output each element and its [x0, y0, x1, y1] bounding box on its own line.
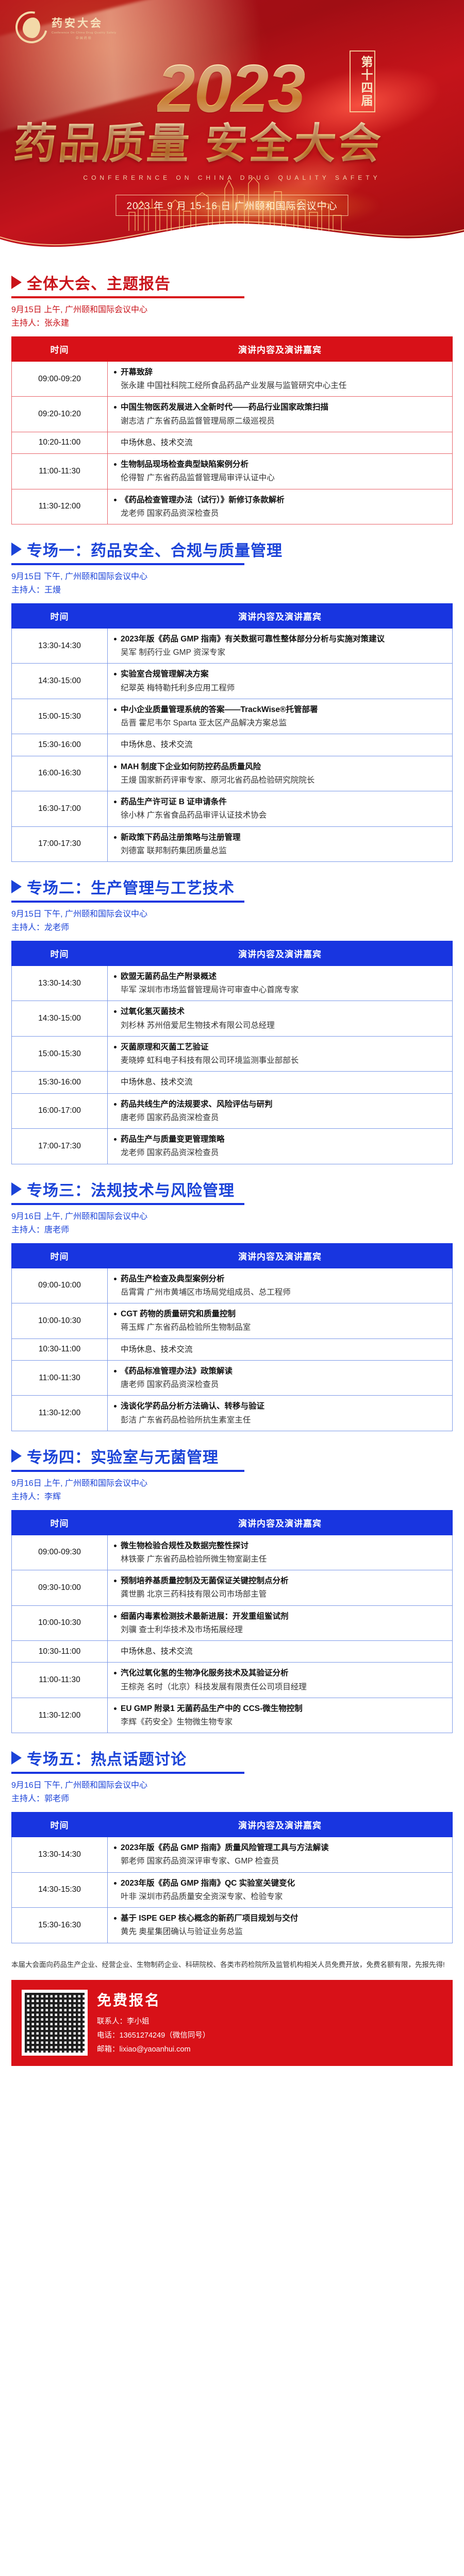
session-content: 中场休息、技术交流 — [108, 734, 453, 756]
session-time: 16:30-17:00 — [12, 791, 108, 827]
session-topic: 过氧化氢灭菌技术 — [113, 1006, 447, 1018]
session-topic: 2023年版《药品 GMP 指南》质量风险管理工具与方法解读 — [113, 1842, 447, 1854]
session-topic: 基于 ISPE GEP 核心概念的新药厂项目规划与交付 — [113, 1912, 447, 1924]
session-speaker: 毕军 深圳市市场监督管理局许可审查中心首席专家 — [113, 984, 447, 996]
session-content: 药品生产与质量变更管理策略 龙老师 国家药品资深检查员 — [108, 1129, 453, 1164]
session-content: 中场休息、技术交流 — [108, 1641, 453, 1663]
column-header-content: 演讲内容及演讲嘉宾 — [108, 941, 453, 965]
session-content: 2023年版《药品 GMP 指南》QC 实验室关键变化 叶非 深圳市药品质量安全… — [108, 1872, 453, 1908]
column-header-content: 演讲内容及演讲嘉宾 — [108, 1812, 453, 1837]
session-content: 汽化过氧化氢的生物净化服务技术及其验证分析 王棕尧 名时（北京）科技发展有限责任… — [108, 1663, 453, 1698]
session-time: 09:00-09:30 — [12, 1535, 108, 1570]
table-row: 11:00-11:30 生物制品现场检查典型缺陷案例分析 伦得智 广东省药品监督… — [12, 454, 453, 489]
session-time: 09:30-10:00 — [12, 1570, 108, 1606]
session-block: 专场三：法规技术与风险管理 9月16日 上午, 广州颐和国际会议中心 主持人：唐… — [0, 1178, 464, 1431]
session-header: 专场二：生产管理与工艺技术 — [11, 875, 453, 898]
session-topic: MAH 制度下企业如何防控药品质量风险 — [113, 761, 447, 773]
session-time: 11:00-11:30 — [12, 454, 108, 489]
session-block: 专场四：实验室与无菌管理 9月16日 上午, 广州颐和国际会议中心 主持人：李辉… — [0, 1445, 464, 1734]
session-speaker: 岳晋 霍尼韦尔 Sparta 亚太区产品解决方案总监 — [113, 717, 447, 729]
session-topic: 汽化过氧化氢的生物净化服务技术及其验证分析 — [113, 1667, 447, 1679]
session-datetime: 9月16日 上午, 广州颐和国际会议中心 — [11, 1477, 453, 1490]
table-header-row: 时间 演讲内容及演讲嘉宾 — [12, 1510, 453, 1535]
session-speaker: 龚世鹏 北京三药科技有限公司市场部主管 — [113, 1588, 447, 1600]
session-title: 专场五：热点话题讨论 — [27, 1747, 187, 1769]
session-time: 16:00-17:00 — [12, 1093, 108, 1129]
session-underline — [11, 901, 244, 903]
session-content: 浅谈化学药品分析方法确认、转移与验证 彭洁 广东省药品检验所抗生素室主任 — [108, 1396, 453, 1431]
session-speaker: 龙老师 国家药品资深检查员 — [113, 507, 447, 519]
session-title: 专场四：实验室与无菌管理 — [27, 1445, 219, 1467]
session-topic: 《药品检查管理办法（试行）》新修订条款解析 — [113, 494, 447, 506]
page-title: 药品质量 安全大会 — [12, 109, 460, 171]
table-row: 10:30-11:00 中场休息、技术交流 — [12, 1338, 453, 1360]
session-block: 专场二：生产管理与工艺技术 9月15日 下午, 广州颐和国际会议中心 主持人：龙… — [0, 875, 464, 1164]
session-agenda-table: 时间 演讲内容及演讲嘉宾 09:00-10:00 药品生产检查及典型案例分析 岳… — [11, 1243, 453, 1431]
session-topic: 开幕致辞 — [113, 366, 447, 378]
session-speaker: 刘杉林 苏州倍爱尼生物技术有限公司总经理 — [113, 1020, 447, 1031]
session-time: 09:00-10:00 — [12, 1268, 108, 1303]
session-title: 全体大会、主题报告 — [27, 271, 171, 294]
table-row: 17:00-17:30 药品生产与质量变更管理策略 龙老师 国家药品资深检查员 — [12, 1129, 453, 1164]
table-row: 09:00-09:30 微生物检验合规性及数据完整性探讨 林铁豪 广东省药品检验… — [12, 1535, 453, 1570]
table-row: 16:00-16:30 MAH 制度下企业如何防控药品质量风险 王熳 国家新药评… — [12, 756, 453, 791]
table-row: 15:30-16:00 中场休息、技术交流 — [12, 1072, 453, 1093]
column-header-time: 时间 — [12, 941, 108, 965]
table-row: 10:00-10:30 细菌内毒素检测技术最新进展：开发重组鲎试剂 刘骥 查士利… — [12, 1605, 453, 1641]
table-header-row: 时间 演讲内容及演讲嘉宾 — [12, 603, 453, 628]
session-content: 基于 ISPE GEP 核心概念的新药厂项目规划与交付 黄先 奥星集团确认与验证… — [108, 1908, 453, 1943]
edition-seal: 第十四届 — [350, 50, 375, 112]
session-content: 欧盟无菌药品生产附录概述 毕军 深圳市市场监督管理局许可审查中心首席专家 — [108, 965, 453, 1001]
session-speaker: 黄先 奥星集团确认与验证业务总监 — [113, 1926, 447, 1938]
session-underline — [11, 296, 244, 298]
session-topic: 药品共线生产的法规要求、风险评估与研判 — [113, 1098, 447, 1110]
session-content: 中国生物医药发展进入全新时代——药品行业国家政策扫描 谢志洁 广东省药品监督管理… — [108, 397, 453, 432]
session-title: 专场二：生产管理与工艺技术 — [27, 875, 235, 898]
session-content: CGT 药物的质量研究和质量控制 蒋玉辉 广东省药品检验所生物制品室 — [108, 1303, 453, 1339]
column-header-time: 时间 — [12, 603, 108, 628]
session-speaker: 吴军 制药行业 GMP 资深专家 — [113, 647, 447, 658]
session-content: 中场休息、技术交流 — [108, 1072, 453, 1093]
session-topic: 药品生产检查及典型案例分析 — [113, 1273, 447, 1285]
signup-email: 邮箱：lixiao@yaoanhui.com — [97, 2043, 442, 2057]
session-topic: 2023年版《药品 GMP 指南》有关数据可靠性整体部分分析与实施对策建议 — [113, 633, 447, 645]
session-speaker: 徐小林 广东省食品药品审评认证技术协会 — [113, 809, 447, 821]
session-time: 15:30-16:30 — [12, 1908, 108, 1943]
session-header: 专场一：药品安全、合规与质量管理 — [11, 538, 453, 561]
session-speaker: 麦晓婷 虹科电子科技有限公司环境监测事业部部长 — [113, 1055, 447, 1066]
session-content: 微生物检验合规性及数据完整性探讨 林铁豪 广东省药品检验所微生物室副主任 — [108, 1535, 453, 1570]
column-header-content: 演讲内容及演讲嘉宾 — [108, 1243, 453, 1268]
session-speaker: 王熳 国家新药评审专家、原河北省药品检验研究院院长 — [113, 774, 447, 786]
table-row: 13:30-14:30 欧盟无菌药品生产附录概述 毕军 深圳市市场监督管理局许可… — [12, 965, 453, 1001]
qr-code-pattern — [25, 1993, 85, 2053]
session-datetime: 9月15日 下午, 广州颐和国际会议中心 — [11, 908, 453, 921]
session-topic: 生物制品现场检查典型缺陷案例分析 — [113, 459, 447, 470]
session-time: 11:30-12:00 — [12, 489, 108, 524]
column-header-time: 时间 — [12, 1812, 108, 1837]
session-underline — [11, 563, 244, 565]
table-row: 15:00-15:30 灭菌原理和灭菌工艺验证 麦晓婷 虹科电子科技有限公司环境… — [12, 1036, 453, 1072]
session-topic: 中小企业质量管理系统的答案——TrackWise®托管部署 — [113, 704, 447, 716]
session-topic: 新政策下药品注册策略与注册管理 — [113, 832, 447, 843]
session-time: 10:30-11:00 — [12, 1641, 108, 1663]
session-block: 专场五：热点话题讨论 9月16日 下午, 广州颐和国际会议中心 主持人：郭老师 … — [0, 1747, 464, 1943]
wave-divider — [0, 192, 464, 258]
session-time: 13:30-14:30 — [12, 965, 108, 1001]
triangle-bullet-icon — [11, 1182, 22, 1196]
table-row: 14:30-15:00 过氧化氢灭菌技术 刘杉林 苏州倍爱尼生物技术有限公司总经… — [12, 1001, 453, 1037]
session-time: 14:30-15:30 — [12, 1872, 108, 1908]
session-topic: 2023年版《药品 GMP 指南》QC 实验室关键变化 — [113, 1877, 447, 1889]
session-speaker: 李辉《药安全》生物微生物专家 — [113, 1716, 447, 1728]
triangle-bullet-icon — [11, 543, 22, 556]
session-speaker: 唐老师 国家药品资深检查员 — [113, 1379, 447, 1391]
session-content: MAH 制度下企业如何防控药品质量风险 王熳 国家新药评审专家、原河北省药品检验… — [108, 756, 453, 791]
session-content: 《药品检查管理办法（试行）》新修订条款解析 龙老师 国家药品资深检查员 — [108, 489, 453, 524]
session-time: 11:30-12:00 — [12, 1396, 108, 1431]
session-time: 13:30-14:30 — [12, 628, 108, 664]
session-topic: 灭菌原理和灭菌工艺验证 — [113, 1041, 447, 1053]
logo-subtitle: 中国药检 — [52, 36, 117, 40]
session-topic: 浅谈化学药品分析方法确认、转移与验证 — [113, 1400, 447, 1412]
logo-emblem-icon — [15, 11, 47, 43]
session-topic: 《药品标准管理办法》政策解读 — [113, 1365, 447, 1377]
session-topic: 预制培养基质量控制及无菌保证关键控制点分析 — [113, 1575, 447, 1587]
column-header-content: 演讲内容及演讲嘉宾 — [108, 1510, 453, 1535]
session-speaker: 王棕尧 名时（北京）科技发展有限责任公司项目经理 — [113, 1681, 447, 1693]
session-time: 17:00-17:30 — [12, 826, 108, 862]
session-speaker: 谢志洁 广东省药品监督管理局原二级巡视员 — [113, 415, 447, 427]
session-header: 专场五：热点话题讨论 — [11, 1747, 453, 1769]
session-time: 13:30-14:30 — [12, 1837, 108, 1873]
session-speaker: 蒋玉辉 广东省药品检验所生物制品室 — [113, 1321, 447, 1333]
table-row: 10:20-11:00 中场休息、技术交流 — [12, 432, 453, 453]
column-header-content: 演讲内容及演讲嘉宾 — [108, 603, 453, 628]
session-topic: 微生物检验合规性及数据完整性探讨 — [113, 1540, 447, 1552]
logo-chinese-name: 药安大会 — [52, 15, 117, 30]
column-header-time: 时间 — [12, 1243, 108, 1268]
table-row: 10:30-11:00 中场休息、技术交流 — [12, 1641, 453, 1663]
session-block: 全体大会、主题报告 9月15日 上午, 广州颐和国际会议中心 主持人：张永建 时… — [0, 271, 464, 524]
session-time: 10:20-11:00 — [12, 432, 108, 453]
session-speaker: 叶非 深圳市药品质量安全资深专家、检验专家 — [113, 1891, 447, 1903]
table-row: 13:30-14:30 2023年版《药品 GMP 指南》有关数据可靠性整体部分… — [12, 628, 453, 664]
table-row: 09:00-09:20 开幕致辞 张永建 中国社科院工经所食品药品产业发展与监管… — [12, 361, 453, 397]
session-host: 主持人：王熳 — [11, 584, 453, 597]
qr-code[interactable] — [22, 1990, 88, 2056]
session-time: 16:00-16:30 — [12, 756, 108, 791]
session-topic: 欧盟无菌药品生产附录概述 — [113, 971, 447, 982]
session-topic: 实验室合规管理解决方案 — [113, 668, 447, 680]
session-agenda-table: 时间 演讲内容及演讲嘉宾 13:30-14:30 2023年版《药品 GMP 指… — [11, 1812, 453, 1943]
session-speaker: 张永建 中国社科院工经所食品药品产业发展与监管研究中心主任 — [113, 380, 447, 392]
session-speaker: 刘德富 联邦制药集团质量总监 — [113, 845, 447, 857]
table-row: 09:20-10:20 中国生物医药发展进入全新时代——药品行业国家政策扫描 谢… — [12, 397, 453, 432]
session-content: 《药品标准管理办法》政策解读 唐老师 国家药品资深检查员 — [108, 1360, 453, 1396]
session-break-label: 中场休息、技术交流 — [113, 1076, 447, 1088]
conference-agenda-poster: 药安大会 Conference On China Drug Quality Sa… — [0, 0, 464, 2066]
conference-logo: 药安大会 Conference On China Drug Quality Sa… — [15, 11, 117, 43]
triangle-bullet-icon — [11, 1449, 22, 1463]
session-host: 主持人：郭老师 — [11, 1792, 453, 1806]
session-time: 15:00-15:30 — [12, 699, 108, 734]
table-header-row: 时间 演讲内容及演讲嘉宾 — [12, 941, 453, 965]
session-title: 专场一：药品安全、合规与质量管理 — [27, 538, 283, 561]
session-agenda-table: 时间 演讲内容及演讲嘉宾 09:00-09:20 开幕致辞 张永建 中国社科院工… — [11, 336, 453, 524]
session-time: 14:30-15:00 — [12, 664, 108, 699]
session-agenda-table: 时间 演讲内容及演讲嘉宾 13:30-14:30 2023年版《药品 GMP 指… — [11, 603, 453, 862]
table-row: 11:00-11:30 《药品标准管理办法》政策解读 唐老师 国家药品资深检查员 — [12, 1360, 453, 1396]
session-host: 主持人：龙老师 — [11, 921, 453, 935]
session-host: 主持人：李辉 — [11, 1490, 453, 1504]
session-host: 主持人：唐老师 — [11, 1224, 453, 1237]
table-row: 11:30-12:00 EU GMP 附录1 无菌药品生产中的 CCS-微生物控… — [12, 1698, 453, 1733]
session-time: 17:00-17:30 — [12, 1129, 108, 1164]
session-speaker: 林铁豪 广东省药品检验所微生物室副主任 — [113, 1553, 447, 1565]
session-time: 10:30-11:00 — [12, 1338, 108, 1360]
session-speaker: 刘骥 查士利华技术及市场拓展经理 — [113, 1624, 447, 1636]
sessions-container: 全体大会、主题报告 9月15日 上午, 广州颐和国际会议中心 主持人：张永建 时… — [0, 271, 464, 1943]
session-header: 全体大会、主题报告 — [11, 271, 453, 294]
table-row: 15:00-15:30 中小企业质量管理系统的答案——TrackWise®托管部… — [12, 699, 453, 734]
session-time: 15:00-15:30 — [12, 1036, 108, 1072]
triangle-bullet-icon — [11, 276, 22, 289]
table-row: 16:30-17:00 药品生产许可证 B 证申请条件 徐小林 广东省食品药品审… — [12, 791, 453, 827]
session-agenda-table: 时间 演讲内容及演讲嘉宾 09:00-09:30 微生物检验合规性及数据完整性探… — [11, 1510, 453, 1734]
english-subtitle: CONFERERNCE ON CHINA DRUG QUALITY SAFETY — [0, 174, 464, 181]
session-underline — [11, 1470, 244, 1472]
session-speaker: 伦得智 广东省药品监督管理局审评认证中心 — [113, 472, 447, 484]
session-break-label: 中场休息、技术交流 — [113, 739, 447, 751]
session-block: 专场一：药品安全、合规与质量管理 9月15日 下午, 广州颐和国际会议中心 主持… — [0, 538, 464, 862]
table-row: 11:30-12:00 《药品检查管理办法（试行）》新修订条款解析 龙老师 国家… — [12, 489, 453, 524]
table-row: 15:30-16:00 中场休息、技术交流 — [12, 734, 453, 756]
table-header-row: 时间 演讲内容及演讲嘉宾 — [12, 1812, 453, 1837]
session-header: 专场四：实验室与无菌管理 — [11, 1445, 453, 1467]
signup-contact: 联系人：李小姐 — [97, 2015, 442, 2029]
session-topic: CGT 药物的质量研究和质量控制 — [113, 1308, 447, 1320]
session-speaker: 唐老师 国家药品资深检查员 — [113, 1112, 447, 1124]
hero-banner: 药安大会 Conference On China Drug Quality Sa… — [0, 0, 464, 258]
session-underline — [11, 1772, 244, 1774]
session-content: 细菌内毒素检测技术最新进展：开发重组鲎试剂 刘骥 查士利华技术及市场拓展经理 — [108, 1605, 453, 1641]
session-content: 药品生产许可证 B 证申请条件 徐小林 广东省食品药品审评认证技术协会 — [108, 791, 453, 827]
session-agenda-table: 时间 演讲内容及演讲嘉宾 13:30-14:30 欧盟无菌药品生产附录概述 毕军… — [11, 941, 453, 1164]
session-content: 开幕致辞 张永建 中国社科院工经所食品药品产业发展与监管研究中心主任 — [108, 361, 453, 397]
session-content: EU GMP 附录1 无菌药品生产中的 CCS-微生物控制 李辉《药安全》生物微… — [108, 1698, 453, 1733]
session-break-label: 中场休息、技术交流 — [113, 1646, 447, 1657]
session-content: 过氧化氢灭菌技术 刘杉林 苏州倍爱尼生物技术有限公司总经理 — [108, 1001, 453, 1037]
table-row: 09:30-10:00 预制培养基质量控制及无菌保证关键控制点分析 龚世鹏 北京… — [12, 1570, 453, 1606]
table-row: 16:00-17:00 药品共线生产的法规要求、风险评估与研判 唐老师 国家药品… — [12, 1093, 453, 1129]
session-speaker: 龙老师 国家药品资深检查员 — [113, 1147, 447, 1159]
session-title: 专场三：法规技术与风险管理 — [27, 1178, 235, 1200]
session-content: 预制培养基质量控制及无菌保证关键控制点分析 龚世鹏 北京三药科技有限公司市场部主… — [108, 1570, 453, 1606]
session-topic: 细菌内毒素检测技术最新进展：开发重组鲎试剂 — [113, 1611, 447, 1622]
session-underline — [11, 1203, 244, 1205]
session-content: 生物制品现场检查典型缺陷案例分析 伦得智 广东省药品监督管理局审评认证中心 — [108, 454, 453, 489]
session-host: 主持人：张永建 — [11, 317, 453, 330]
session-break-label: 中场休息、技术交流 — [113, 1344, 447, 1355]
session-time: 11:30-12:00 — [12, 1698, 108, 1733]
session-topic: EU GMP 附录1 无菌药品生产中的 CCS-微生物控制 — [113, 1703, 447, 1715]
column-header-time: 时间 — [12, 1510, 108, 1535]
session-time: 14:30-15:00 — [12, 1001, 108, 1037]
session-time: 10:00-10:30 — [12, 1605, 108, 1641]
session-datetime: 9月16日 上午, 广州颐和国际会议中心 — [11, 1210, 453, 1224]
session-break-label: 中场休息、技术交流 — [113, 437, 447, 449]
column-header-time: 时间 — [12, 336, 108, 361]
session-time: 09:00-09:20 — [12, 361, 108, 397]
session-content: 中场休息、技术交流 — [108, 1338, 453, 1360]
signup-title: 免费报名 — [97, 1989, 442, 2010]
table-row: 14:30-15:30 2023年版《药品 GMP 指南》QC 实验室关键变化 … — [12, 1872, 453, 1908]
table-header-row: 时间 演讲内容及演讲嘉宾 — [12, 336, 453, 361]
column-header-content: 演讲内容及演讲嘉宾 — [108, 336, 453, 361]
table-row: 11:30-12:00 浅谈化学药品分析方法确认、转移与验证 彭洁 广东省药品检… — [12, 1396, 453, 1431]
triangle-bullet-icon — [11, 880, 22, 893]
session-content: 中场休息、技术交流 — [108, 432, 453, 453]
table-header-row: 时间 演讲内容及演讲嘉宾 — [12, 1243, 453, 1268]
signup-block: 免费报名 联系人：李小姐 电话：13651274249（微信同号） 邮箱：lix… — [11, 1980, 453, 2065]
session-topic: 中国生物医药发展进入全新时代——药品行业国家政策扫描 — [113, 401, 447, 413]
session-content: 实验室合规管理解决方案 纪翠英 梅特勒托利多应用工程师 — [108, 664, 453, 699]
session-datetime: 9月15日 下午, 广州颐和国际会议中心 — [11, 570, 453, 584]
session-speaker: 岳霄霄 广州市黄埔区市场局党组成员、总工程师 — [113, 1286, 447, 1298]
session-time: 15:30-16:00 — [12, 734, 108, 756]
session-topic: 药品生产与质量变更管理策略 — [113, 1133, 447, 1145]
session-content: 药品生产检查及典型案例分析 岳霄霄 广州市黄埔区市场局党组成员、总工程师 — [108, 1268, 453, 1303]
session-content: 灭菌原理和灭菌工艺验证 麦晓婷 虹科电子科技有限公司环境监测事业部部长 — [108, 1036, 453, 1072]
session-content: 药品共线生产的法规要求、风险评估与研判 唐老师 国家药品资深检查员 — [108, 1093, 453, 1129]
table-row: 11:00-11:30 汽化过氧化氢的生物净化服务技术及其验证分析 王棕尧 名时… — [12, 1663, 453, 1698]
session-content: 中小企业质量管理系统的答案——TrackWise®托管部署 岳晋 霍尼韦尔 Sp… — [108, 699, 453, 734]
session-speaker: 郭老师 国家药品资深评审专家、GMP 检查员 — [113, 1855, 447, 1867]
session-time: 11:00-11:30 — [12, 1360, 108, 1396]
signup-phone: 电话：13651274249（微信同号） — [97, 2029, 442, 2043]
session-time: 15:30-16:00 — [12, 1072, 108, 1093]
session-header: 专场三：法规技术与风险管理 — [11, 1178, 453, 1200]
session-speaker: 彭洁 广东省药品检验所抗生素室主任 — [113, 1414, 447, 1426]
session-content: 2023年版《药品 GMP 指南》质量风险管理工具与方法解读 郭老师 国家药品资… — [108, 1837, 453, 1873]
session-content: 2023年版《药品 GMP 指南》有关数据可靠性整体部分分析与实施对策建议 吴军… — [108, 628, 453, 664]
session-time: 10:00-10:30 — [12, 1303, 108, 1339]
session-speaker: 纪翠英 梅特勒托利多应用工程师 — [113, 682, 447, 694]
session-datetime: 9月15日 上午, 广州颐和国际会议中心 — [11, 303, 453, 317]
session-time: 11:00-11:30 — [12, 1663, 108, 1698]
table-row: 10:00-10:30 CGT 药物的质量研究和质量控制 蒋玉辉 广东省药品检验… — [12, 1303, 453, 1339]
session-content: 新政策下药品注册策略与注册管理 刘德富 联邦制药集团质量总监 — [108, 826, 453, 862]
session-time: 09:20-10:20 — [12, 397, 108, 432]
triangle-bullet-icon — [11, 1751, 22, 1765]
table-row: 17:00-17:30 新政策下药品注册策略与注册管理 刘德富 联邦制药集团质量… — [12, 826, 453, 862]
session-datetime: 9月16日 下午, 广州颐和国际会议中心 — [11, 1779, 453, 1792]
table-row: 09:00-10:00 药品生产检查及典型案例分析 岳霄霄 广州市黄埔区市场局党… — [12, 1268, 453, 1303]
table-row: 14:30-15:00 实验室合规管理解决方案 纪翠英 梅特勒托利多应用工程师 — [12, 664, 453, 699]
session-topic: 药品生产许可证 B 证申请条件 — [113, 796, 447, 808]
logo-english-name: Conference On China Drug Quality Safety — [52, 31, 117, 35]
table-row: 15:30-16:30 基于 ISPE GEP 核心概念的新药厂项目规划与交付 … — [12, 1908, 453, 1943]
eligibility-note: 本届大会面向药品生产企业、经营企业、生物制药企业、科研院校、各类市药检院所及监管… — [11, 1959, 453, 1971]
table-row: 13:30-14:30 2023年版《药品 GMP 指南》质量风险管理工具与方法… — [12, 1837, 453, 1873]
